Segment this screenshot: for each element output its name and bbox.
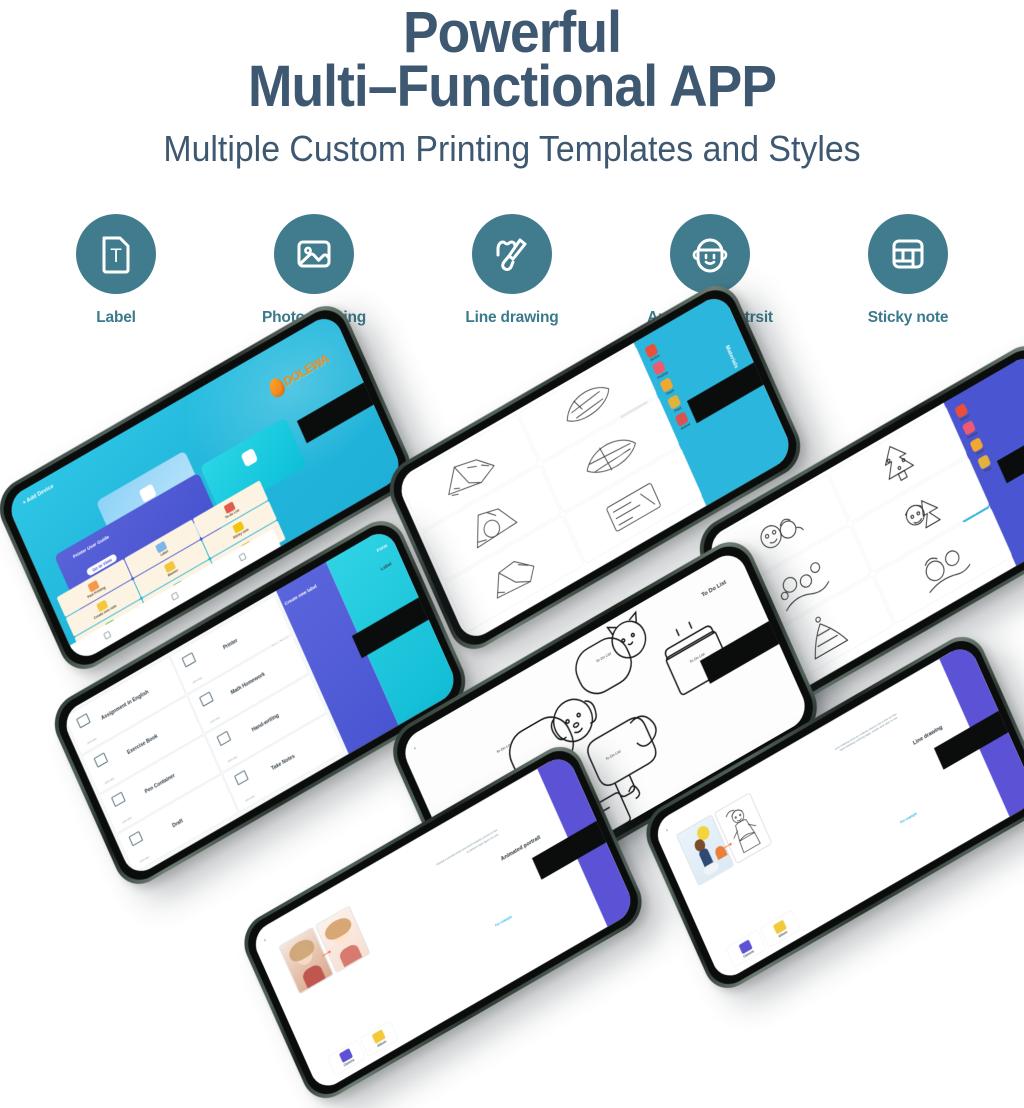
feature-sticky-note[interactable]: Sticky note bbox=[842, 214, 974, 327]
sticker-popsicle-body-2 bbox=[584, 714, 659, 790]
form-card-text: Form bbox=[376, 543, 388, 554]
feature-label[interactable]: T Label bbox=[50, 214, 182, 327]
template-thumb-icon bbox=[94, 752, 109, 767]
phone-mockup-stage: + Add Device DOLEWA Photo Printing Anima… bbox=[0, 360, 1024, 980]
template-name: Draft bbox=[171, 818, 183, 829]
svg-text:T: T bbox=[110, 246, 122, 267]
cartoon-face-icon bbox=[670, 214, 750, 294]
page-subtitle: Multiple Custom Printing Templates and S… bbox=[31, 126, 994, 172]
feature-sticky-note-caption: Sticky note bbox=[868, 309, 949, 327]
template-meta: print copy bbox=[140, 856, 150, 864]
animated-portrait-tile-icon bbox=[240, 448, 258, 468]
template-meta: print copy bbox=[210, 716, 220, 724]
template-thumb-icon bbox=[234, 770, 249, 785]
tab-material-icon[interactable] bbox=[171, 591, 179, 600]
template-thumb-icon bbox=[111, 791, 126, 806]
template-meta: print copy bbox=[87, 738, 97, 746]
template-thumb-icon bbox=[76, 713, 91, 728]
sticker-cat-head bbox=[607, 615, 651, 664]
template-meta: print copy bbox=[122, 817, 132, 825]
tab-mine-icon[interactable] bbox=[239, 552, 247, 561]
template-thumb-icon bbox=[217, 730, 232, 745]
template-meta: print copy bbox=[228, 756, 238, 764]
template-meta: print copy bbox=[193, 677, 203, 685]
template-name: Exercise Book bbox=[127, 734, 159, 756]
paint-brush-icon bbox=[472, 214, 552, 294]
template-name: Assignment in English bbox=[101, 689, 150, 721]
create-new-label-text: Create new label bbox=[284, 584, 318, 607]
feature-label-caption: Label bbox=[96, 309, 135, 327]
title-line-2: Multi–Functional APP bbox=[41, 60, 983, 114]
template-thumb-icon bbox=[129, 830, 144, 845]
template-name: Printer bbox=[222, 638, 238, 651]
template-name: Math Homework bbox=[230, 672, 266, 696]
template-meta: print copy bbox=[245, 795, 255, 803]
photo-image-icon bbox=[274, 214, 354, 294]
layout-grid-icon bbox=[868, 214, 948, 294]
feature-line-drawing-caption: Line drawing bbox=[465, 309, 558, 327]
hero-section: Powerful Multi–Functional APP Multiple C… bbox=[0, 0, 1024, 172]
feature-icon-row: T Label Photo Printing Line drawing bbox=[0, 214, 1024, 327]
template-name: Pen Container bbox=[144, 773, 176, 795]
template-thumb-icon bbox=[199, 691, 214, 706]
tab-home-icon[interactable] bbox=[103, 630, 111, 639]
template-meta: print copy bbox=[105, 777, 115, 785]
template-thumb-icon bbox=[182, 652, 197, 667]
template-name: Take Notes bbox=[271, 753, 296, 771]
template-name: Hand-writing bbox=[251, 713, 280, 733]
sticker-cat-body bbox=[570, 630, 638, 701]
page-title: Powerful Multi–Functional APP bbox=[41, 6, 983, 114]
label-tag-icon: T bbox=[76, 214, 156, 294]
feature-line-drawing[interactable]: Line drawing bbox=[446, 214, 578, 327]
